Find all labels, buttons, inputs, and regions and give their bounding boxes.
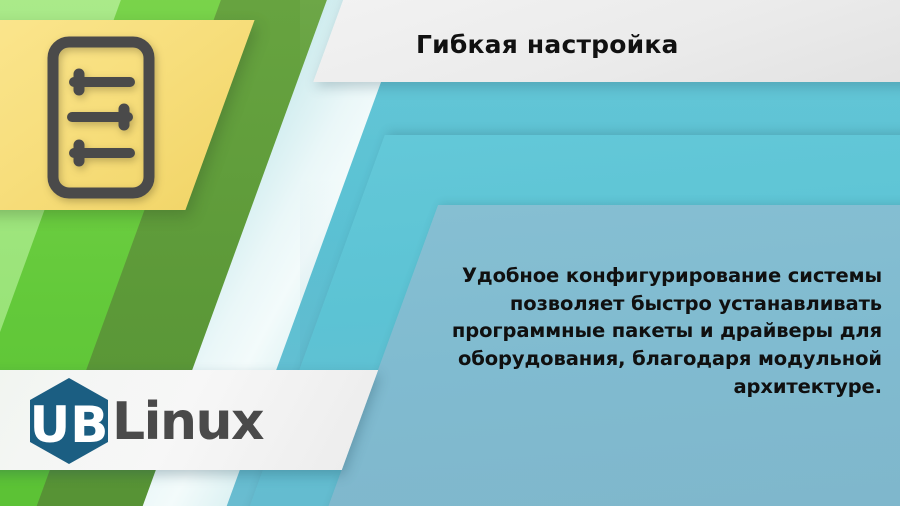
settings-sliders-icon <box>46 35 156 200</box>
page-title: Гибкая настройка <box>370 16 900 72</box>
body-text: Удобное конфигурирование системы позволя… <box>420 262 882 400</box>
svg-text:UB: UB <box>30 396 109 454</box>
ub-hexagon-icon: UB <box>26 376 112 466</box>
brand-logo: UB Linux <box>26 376 263 466</box>
brand-wordmark: Linux <box>112 396 263 448</box>
slide-canvas: UB Гибкая настройка Удобное конфигуриров… <box>0 0 900 506</box>
